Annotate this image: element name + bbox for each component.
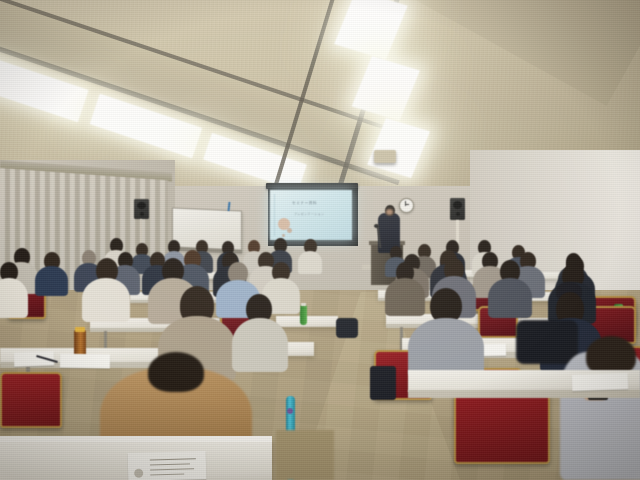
attendee-body xyxy=(35,266,68,296)
slide-subtitle: プレゼンテーション xyxy=(294,212,348,216)
chair xyxy=(0,372,62,428)
attendee-body xyxy=(385,278,425,316)
bottle-cap xyxy=(301,303,306,306)
loudspeaker-icon xyxy=(134,199,149,219)
slide-circle-tiny xyxy=(282,234,285,237)
microphone-icon xyxy=(374,224,379,228)
shoulder-bag xyxy=(516,320,578,364)
handout xyxy=(572,373,629,391)
handout-line xyxy=(150,458,196,460)
handout-line xyxy=(150,474,184,476)
attendee-body xyxy=(0,278,28,318)
attendee-body xyxy=(82,278,130,322)
projector-icon xyxy=(374,150,396,163)
green-bottle xyxy=(300,305,307,325)
handout xyxy=(60,354,110,369)
presenter-face xyxy=(386,209,393,215)
umbrella-pattern xyxy=(287,408,293,414)
foreground-table-edge xyxy=(0,436,272,442)
backpack xyxy=(336,318,358,338)
attendee-body xyxy=(232,318,288,372)
slide-circle-small xyxy=(287,228,292,233)
speaker-tweeter xyxy=(140,212,144,216)
clock-minute-hand xyxy=(405,204,409,205)
handout-logo xyxy=(134,469,143,478)
speaker-cone xyxy=(137,202,146,209)
speaker-tweeter xyxy=(456,212,460,216)
slide-accent-bar xyxy=(274,194,275,236)
shoulder-bag xyxy=(370,366,396,400)
handout-line xyxy=(150,468,194,470)
floor-shadow xyxy=(276,430,334,480)
handout xyxy=(128,451,207,480)
loudspeaker-icon xyxy=(450,198,465,220)
projection-screen: セミナー資料 プレゼンテーション xyxy=(270,190,352,240)
clock-icon xyxy=(399,198,414,213)
bottle-cap xyxy=(75,327,85,332)
table-row xyxy=(276,316,338,327)
seminar-room-photo: セミナー資料 プレゼンテーション xyxy=(0,0,640,480)
table-edge xyxy=(408,390,640,398)
attendee-head xyxy=(148,352,204,392)
attendee-body xyxy=(488,278,532,318)
handout-line xyxy=(150,463,190,465)
attendee-body xyxy=(298,251,322,274)
slide-title: セミナー資料 xyxy=(292,201,348,206)
speaker-cone xyxy=(453,201,462,209)
